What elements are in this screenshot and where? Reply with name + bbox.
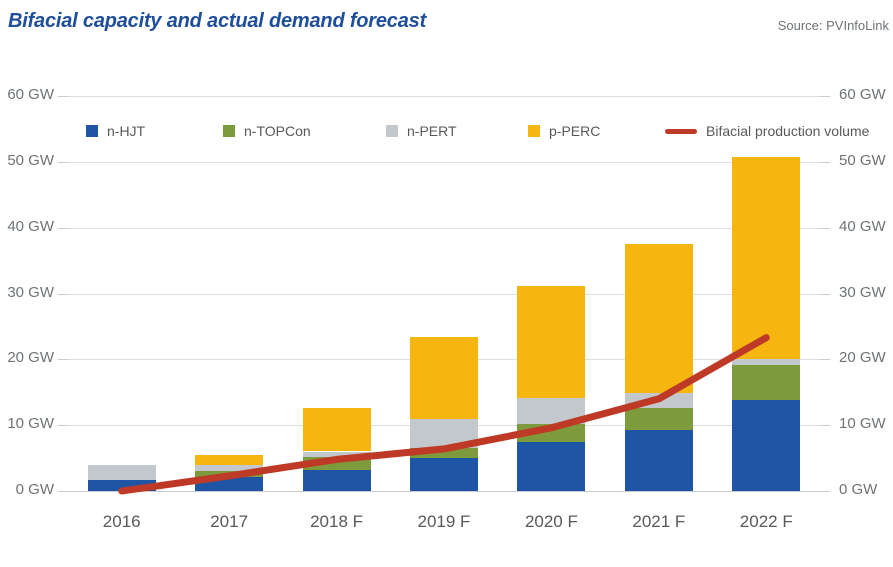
bar-segment-n-topcon[interactable] <box>303 457 371 470</box>
bar-group[interactable] <box>88 0 156 491</box>
bar-segment-n-pert[interactable] <box>732 359 800 364</box>
bar-segment-p-perc[interactable] <box>625 244 693 393</box>
bar-segment-n-hjt[interactable] <box>732 400 800 491</box>
x-tick-label-2021-f: 2021 F <box>605 512 712 532</box>
tick-mark-left-0 <box>58 491 68 492</box>
legend-label: n-TOPCon <box>244 123 311 139</box>
tick-mark-left-50 <box>58 162 68 163</box>
y-tick-label-right-20: 20 GW <box>839 350 893 365</box>
gridline-0 <box>68 491 820 492</box>
tick-mark-right-20 <box>820 359 830 360</box>
bar-group[interactable] <box>195 0 263 491</box>
y-tick-label-right-50: 50 GW <box>839 153 893 168</box>
tick-mark-left-30 <box>58 294 68 295</box>
bar-segment-n-hjt[interactable] <box>410 458 478 491</box>
legend-item-n-topcon[interactable]: n-TOPCon <box>223 121 311 141</box>
tick-mark-right-60 <box>820 96 830 97</box>
bar-segment-n-topcon[interactable] <box>517 424 585 442</box>
legend-item-bifacial-production-volume[interactable]: Bifacial production volume <box>665 121 869 141</box>
y-tick-label-left-0: 0 GW <box>0 482 54 497</box>
legend-swatch-icon <box>223 125 235 137</box>
legend-label: p-PERC <box>549 123 600 139</box>
tick-mark-left-60 <box>58 96 68 97</box>
bar-segment-n-pert[interactable] <box>625 393 693 408</box>
y-tick-label-left-50: 50 GW <box>0 153 54 168</box>
bar-segment-n-hjt[interactable] <box>303 470 371 491</box>
x-tick-label-2016: 2016 <box>68 512 175 532</box>
bar-segment-n-hjt[interactable] <box>88 480 156 491</box>
y-tick-label-left-60: 60 GW <box>0 87 54 102</box>
chart-root: Bifacial capacity and actual demand fore… <box>0 0 893 567</box>
plot-area: 0 GW0 GW10 GW10 GW20 GW20 GW30 GW30 GW40… <box>0 0 893 567</box>
bar-segment-n-pert[interactable] <box>195 465 263 471</box>
chart-legend: n-HJTn-TOPConn-PERTp-PERCBifacial produc… <box>68 121 820 141</box>
bar-group[interactable] <box>625 0 693 491</box>
y-tick-label-right-60: 60 GW <box>839 87 893 102</box>
bar-segment-p-perc[interactable] <box>303 408 371 451</box>
y-tick-label-left-30: 30 GW <box>0 285 54 300</box>
bar-segment-p-perc[interactable] <box>732 157 800 360</box>
bar-segment-n-topcon[interactable] <box>625 408 693 430</box>
x-tick-label-2022-f: 2022 F <box>713 512 820 532</box>
bar-group[interactable] <box>303 0 371 491</box>
x-tick-label-2019-f: 2019 F <box>390 512 497 532</box>
y-tick-label-left-20: 20 GW <box>0 350 54 365</box>
x-tick-label-2018-f: 2018 F <box>283 512 390 532</box>
bar-group[interactable] <box>517 0 585 491</box>
tick-mark-right-30 <box>820 294 830 295</box>
x-tick-label-2017: 2017 <box>175 512 282 532</box>
y-tick-label-right-30: 30 GW <box>839 285 893 300</box>
bar-segment-n-hjt[interactable] <box>195 477 263 491</box>
legend-label: n-PERT <box>407 123 457 139</box>
legend-item-n-hjt[interactable]: n-HJT <box>86 121 145 141</box>
bar-segment-n-pert[interactable] <box>517 398 585 424</box>
legend-item-n-pert[interactable]: n-PERT <box>386 121 457 141</box>
legend-label: Bifacial production volume <box>706 123 869 139</box>
tick-mark-right-40 <box>820 228 830 229</box>
bar-segment-p-perc[interactable] <box>195 455 263 466</box>
y-tick-label-right-40: 40 GW <box>839 219 893 234</box>
bar-segment-p-perc[interactable] <box>517 286 585 398</box>
tick-mark-right-0 <box>820 491 830 492</box>
bar-segment-p-perc[interactable] <box>410 337 478 419</box>
y-tick-label-left-40: 40 GW <box>0 219 54 234</box>
bar-group[interactable] <box>410 0 478 491</box>
bar-segment-n-pert[interactable] <box>88 465 156 480</box>
x-tick-label-2020-f: 2020 F <box>498 512 605 532</box>
bar-segment-n-pert[interactable] <box>303 452 371 458</box>
tick-mark-left-20 <box>58 359 68 360</box>
legend-swatch-icon <box>386 125 398 137</box>
tick-mark-right-50 <box>820 162 830 163</box>
bar-group[interactable] <box>732 0 800 491</box>
y-tick-label-right-0: 0 GW <box>839 482 893 497</box>
tick-mark-right-10 <box>820 425 830 426</box>
bar-segment-n-topcon[interactable] <box>195 471 263 477</box>
tick-mark-left-10 <box>58 425 68 426</box>
legend-line-icon <box>665 129 697 134</box>
legend-label: n-HJT <box>107 123 145 139</box>
y-tick-label-right-10: 10 GW <box>839 416 893 431</box>
bar-segment-n-hjt[interactable] <box>517 442 585 491</box>
legend-item-p-perc[interactable]: p-PERC <box>528 121 600 141</box>
y-tick-label-left-10: 10 GW <box>0 416 54 431</box>
bar-segment-n-topcon[interactable] <box>732 365 800 401</box>
legend-swatch-icon <box>86 125 98 137</box>
tick-mark-left-40 <box>58 228 68 229</box>
bar-segment-n-hjt[interactable] <box>625 430 693 491</box>
bar-segment-n-pert[interactable] <box>410 419 478 449</box>
bar-segment-n-topcon[interactable] <box>410 448 478 458</box>
legend-swatch-icon <box>528 125 540 137</box>
